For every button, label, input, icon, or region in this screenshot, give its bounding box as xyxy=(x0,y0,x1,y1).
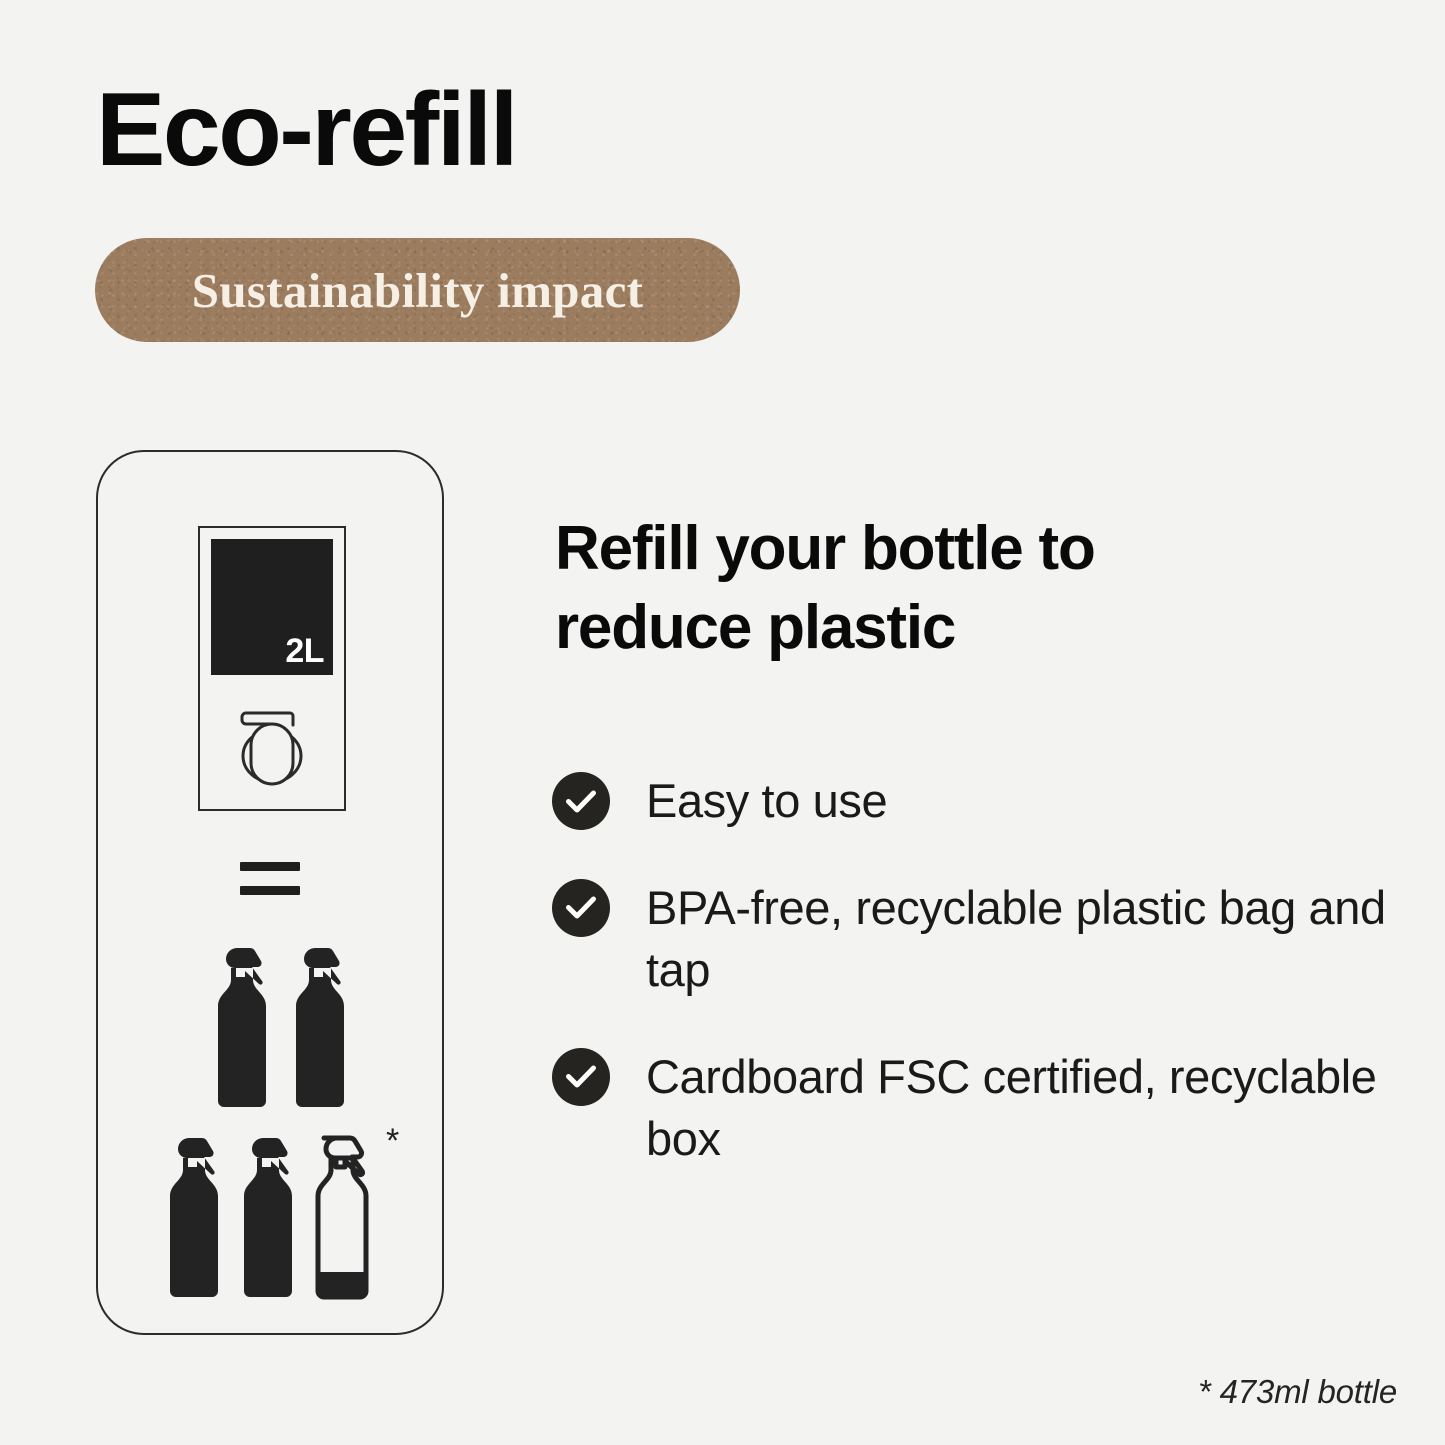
feature-item: Easy to use xyxy=(552,770,1392,833)
tap-icon xyxy=(233,704,311,790)
spray-bottle-row-three xyxy=(156,1130,370,1302)
feature-label: Easy to use xyxy=(646,770,887,833)
check-icon xyxy=(552,1048,610,1106)
equals-bar-bottom xyxy=(240,886,300,895)
refill-carton: 2L xyxy=(198,526,346,811)
page-title: Eco-refill xyxy=(96,78,516,182)
feature-item: BPA-free, recyclable plastic bag and tap xyxy=(552,877,1392,1002)
feature-label: Cardboard FSC certified, recyclable box xyxy=(646,1046,1386,1171)
equals-icon xyxy=(240,862,300,896)
spray-bottle-filled-icon xyxy=(230,1130,296,1302)
check-icon xyxy=(552,879,610,937)
eco-refill-infographic: Eco-refill Sustainability impact 2L xyxy=(0,0,1445,1445)
sustainability-badge: Sustainability impact xyxy=(95,238,740,342)
spray-bottle-filled-icon xyxy=(156,1130,222,1302)
spray-bottle-filled-icon xyxy=(282,940,348,1112)
asterisk-marker: * xyxy=(386,1124,399,1158)
spray-bottle-row-two xyxy=(204,940,348,1112)
feature-item: Cardboard FSC certified, recyclable box xyxy=(552,1046,1392,1171)
feature-label: BPA-free, recyclable plastic bag and tap xyxy=(646,877,1386,1002)
spray-bottle-outline-icon xyxy=(304,1130,370,1302)
feature-list: Easy to use BPA-free, recyclable plastic… xyxy=(552,770,1392,1215)
carton-window: 2L xyxy=(211,539,333,675)
content-heading: Refill your bottle to reduce plastic xyxy=(555,510,1275,667)
check-icon xyxy=(552,772,610,830)
carton-volume-label: 2L xyxy=(285,632,324,671)
illustration-panel: 2L xyxy=(96,450,444,1335)
spray-bottle-filled-icon xyxy=(204,940,270,1112)
equals-bar-top xyxy=(240,862,300,871)
footnote: * 473ml bottle xyxy=(1198,1373,1397,1411)
sustainability-badge-label: Sustainability impact xyxy=(192,262,643,319)
